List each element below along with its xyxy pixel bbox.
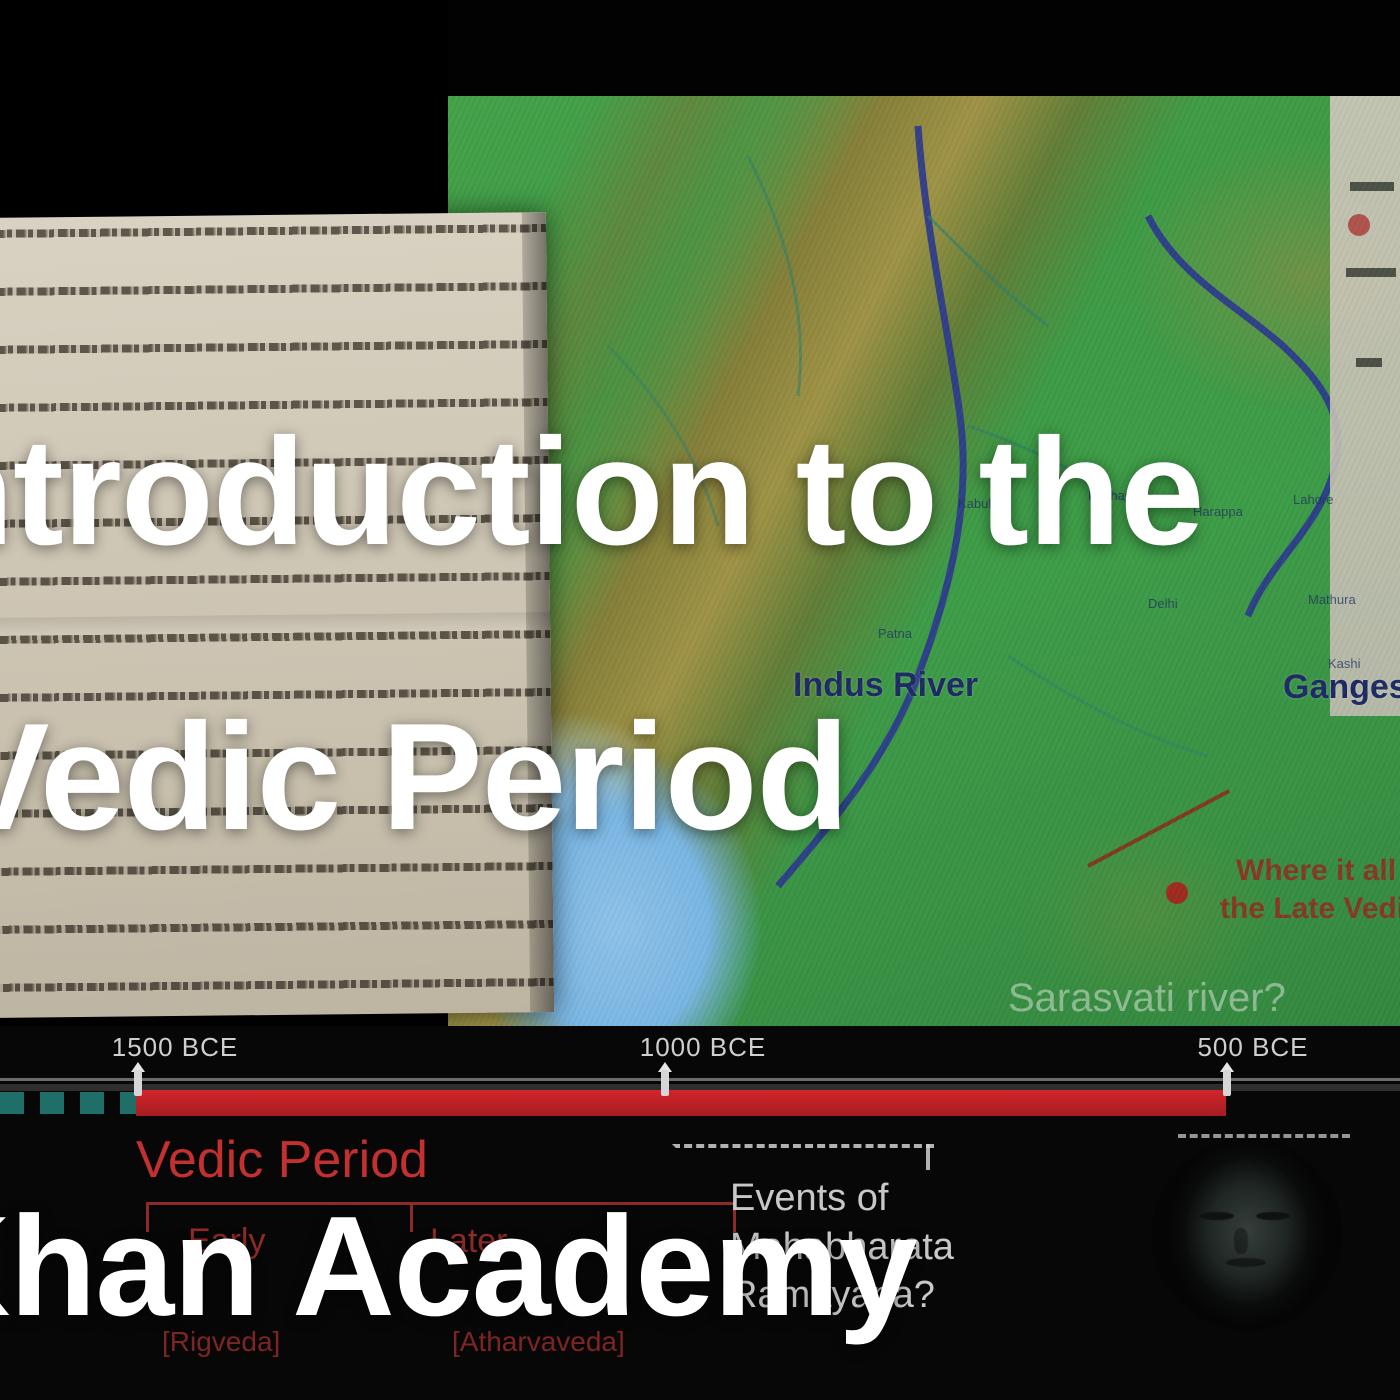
map-annotation-ghost: Sarasvati river?: [1008, 976, 1286, 1021]
timeline-bar-predecessor: [0, 1092, 136, 1114]
buddha-eye-left: [1200, 1212, 1234, 1220]
timeline-event-text: Events of Mahabharata Ramayana?: [730, 1174, 954, 1320]
topographic-map: Indus River Ganges Kabul Peshawar Harapp…: [448, 96, 1400, 1026]
timeline-veda-later: [Atharvaveda]: [452, 1326, 625, 1358]
timeline-tick-500bce: [1223, 1070, 1231, 1096]
buddha-mouth: [1226, 1258, 1266, 1267]
legend-line-3: [1356, 358, 1382, 367]
timeline-year-label: 500 BCE: [1197, 1032, 1308, 1063]
map-minor-label: Kabul: [958, 496, 991, 511]
timeline-period-bracket: [146, 1202, 736, 1205]
timeline-year-label: 1500 BCE: [112, 1032, 239, 1063]
timeline-event-bracket-stem: [926, 1144, 930, 1170]
map-annotation-line-1: Where it all began: [1236, 854, 1400, 888]
timeline-bracket-left-stem: [146, 1202, 149, 1232]
legend-line-1: [1350, 182, 1394, 191]
annotation-point-marker: [1166, 882, 1188, 904]
timeline-axis: [0, 1078, 1400, 1081]
river-network: [448, 96, 1400, 1026]
black-letterbox-band: [0, 0, 448, 225]
timeline-event-bracket: [672, 1144, 934, 1170]
map-label-indus-river: Indus River: [793, 666, 978, 705]
map-annotation-line-2: the Late Vedic period: [1220, 892, 1400, 926]
buddha-nose: [1234, 1228, 1248, 1254]
timeline-veda-early: [Rigveda]: [162, 1326, 280, 1358]
timeline-sublabel-later: Later: [430, 1222, 508, 1261]
map-minor-label: Lahore: [1293, 492, 1333, 507]
map-minor-label: Delhi: [1148, 596, 1178, 611]
map-minor-label: Peshawar: [1088, 488, 1146, 503]
buddha-eye-right: [1256, 1212, 1290, 1220]
legend-marker-icon: [1348, 214, 1370, 236]
timeline-year-label: 1000 BCE: [640, 1032, 767, 1063]
map-minor-label: Kashi: [1328, 656, 1361, 671]
timeline-bracket-mid-stem: [410, 1202, 413, 1232]
sanskrit-manuscript-image: [0, 212, 554, 1018]
timeline-tick-1500bce: [134, 1070, 142, 1096]
timeline-tick-1000bce: [661, 1070, 669, 1096]
buddha-statue-image: [1152, 1140, 1342, 1330]
legend-line-2: [1346, 268, 1396, 277]
timeline-period-label: Vedic Period: [136, 1130, 428, 1190]
thumbnail-canvas: Indus River Ganges Kabul Peshawar Harapp…: [0, 0, 1400, 1400]
map-legend-panel: [1330, 96, 1400, 716]
map-minor-label: Mathura: [1308, 592, 1356, 607]
timeline-sublabel-early: Early: [188, 1222, 265, 1261]
map-minor-label: Patna: [878, 626, 912, 641]
map-label-ganges: Ganges: [1283, 668, 1400, 707]
map-minor-label: Harappa: [1193, 504, 1243, 519]
video-frame: Indus River Ganges Kabul Peshawar Harapp…: [0, 0, 1400, 1400]
annotation-leader-line: [1087, 789, 1230, 868]
timeline-bar-vedic-period: [136, 1090, 1226, 1116]
